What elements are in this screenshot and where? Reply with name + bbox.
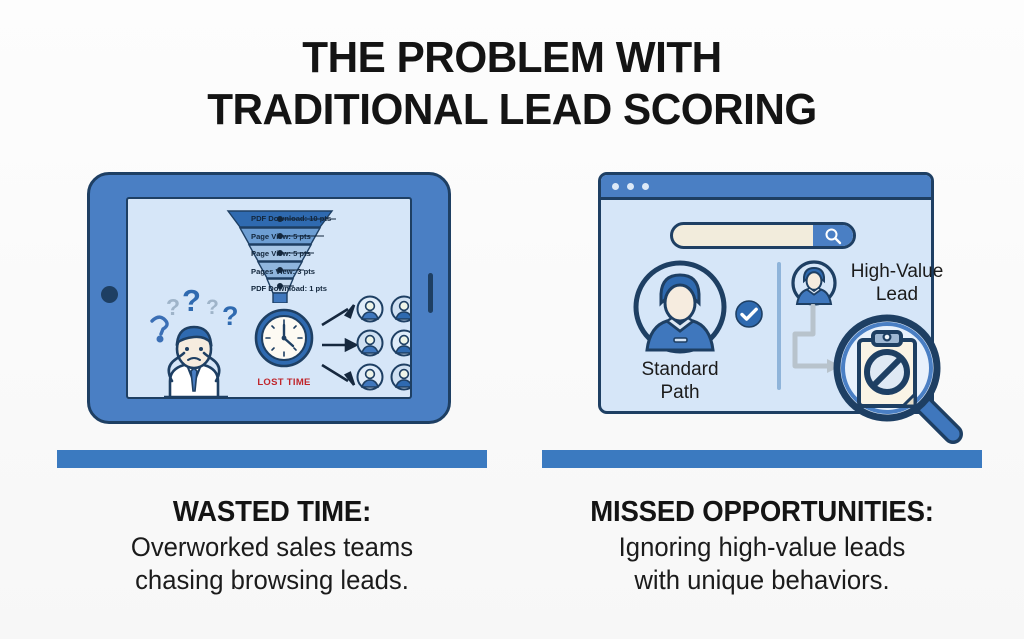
- tablet-device: PDF Download: 10 pts Page View: 5 pts Pa…: [87, 172, 451, 424]
- page-title: THE PROBLEM WITH TRADITIONAL LEAD SCORIN…: [0, 32, 1024, 136]
- search-button[interactable]: [813, 225, 853, 246]
- standard-path-label: Standard Path: [609, 358, 751, 404]
- funnel-label: PDF Download: 10 pts: [251, 210, 391, 228]
- standard-avatar-graphic: [633, 260, 727, 354]
- vertical-divider: [777, 262, 781, 390]
- caption-right-line-2: with unique behaviors.: [553, 565, 971, 596]
- arrows-graphic: [320, 303, 360, 387]
- search-icon: [824, 227, 842, 245]
- divider-bar-right: [542, 450, 982, 468]
- three-arrows-icon: [320, 303, 360, 387]
- user-avatar-icon: [390, 295, 412, 323]
- standard-user-avatar-icon: [633, 260, 727, 354]
- caption-right-heading: MISSED OPPORTUNITIES:: [553, 495, 971, 530]
- clock-icon: [244, 305, 324, 375]
- browser-content: Standard Path High-Value Lead: [601, 200, 931, 411]
- confused-person-graphic: ? ? ? ?: [142, 281, 254, 399]
- svg-text:?: ?: [166, 294, 180, 320]
- lost-time-label: LOST TIME: [244, 377, 324, 388]
- funnel-label: Pages View: 3 pts: [251, 263, 391, 281]
- window-dot-icon[interactable]: [627, 183, 634, 190]
- user-avatar-icon: [390, 329, 412, 357]
- caption-right: MISSED OPPORTUNITIES: Ignoring high-valu…: [542, 495, 982, 596]
- prohibited-icon: [867, 352, 907, 392]
- caption-left-line-1: Overworked sales teams: [68, 532, 477, 563]
- high-value-user-avatar-icon: [791, 260, 837, 306]
- window-dot-icon[interactable]: [642, 183, 649, 190]
- tablet-screen: PDF Download: 10 pts Page View: 5 pts Pa…: [126, 197, 412, 399]
- svg-text:?: ?: [206, 296, 219, 319]
- magnifier-graphic: [829, 310, 965, 446]
- caption-right-line-1: Ignoring high-value leads: [553, 532, 971, 563]
- high-value-lead-label: High-Value Lead: [841, 260, 953, 306]
- svg-text:?: ?: [182, 283, 201, 318]
- standard-path-line-1: Standard: [609, 358, 751, 381]
- window-dot-icon[interactable]: [612, 183, 619, 190]
- caption-left-heading: WASTED TIME:: [68, 495, 477, 530]
- title-line-2: TRADITIONAL LEAD SCORING: [20, 84, 1003, 136]
- user-avatar-icon: [356, 363, 384, 391]
- divider-bar-left: [57, 450, 487, 468]
- lead-avatar-grid: [356, 295, 412, 391]
- high-value-line-1: High-Value: [841, 260, 953, 283]
- browser-title-bar: [601, 175, 931, 200]
- check-circle-icon: [735, 300, 763, 328]
- lost-time-clock: LOST TIME: [244, 305, 324, 399]
- search-input[interactable]: [670, 222, 856, 249]
- side-button-icon: [428, 273, 433, 313]
- title-line-1: THE PROBLEM WITH: [20, 32, 1003, 84]
- caption-left-line-2: chasing browsing leads.: [68, 565, 477, 596]
- caption-left: WASTED TIME: Overworked sales teams chas…: [57, 495, 487, 596]
- high-value-avatar-graphic: [791, 260, 837, 306]
- funnel-label: Page View: 5 pts: [251, 245, 391, 263]
- browser-window: Standard Path High-Value Lead: [598, 172, 934, 414]
- confused-person-icon: ? ? ? ?: [142, 281, 254, 399]
- funnel-label: Page View: 5 pts: [251, 228, 391, 246]
- user-avatar-icon: [356, 329, 384, 357]
- check-badge-graphic: [735, 300, 763, 328]
- funnel-label-list: PDF Download: 10 pts Page View: 5 pts Pa…: [251, 210, 391, 298]
- standard-path-line-2: Path: [609, 381, 751, 404]
- magnifying-glass-icon: [829, 310, 965, 446]
- user-avatar-icon: [390, 363, 412, 391]
- high-value-line-2: Lead: [841, 283, 953, 306]
- svg-text:?: ?: [222, 301, 239, 331]
- user-avatar-icon: [356, 295, 384, 323]
- home-button-icon: [101, 286, 118, 303]
